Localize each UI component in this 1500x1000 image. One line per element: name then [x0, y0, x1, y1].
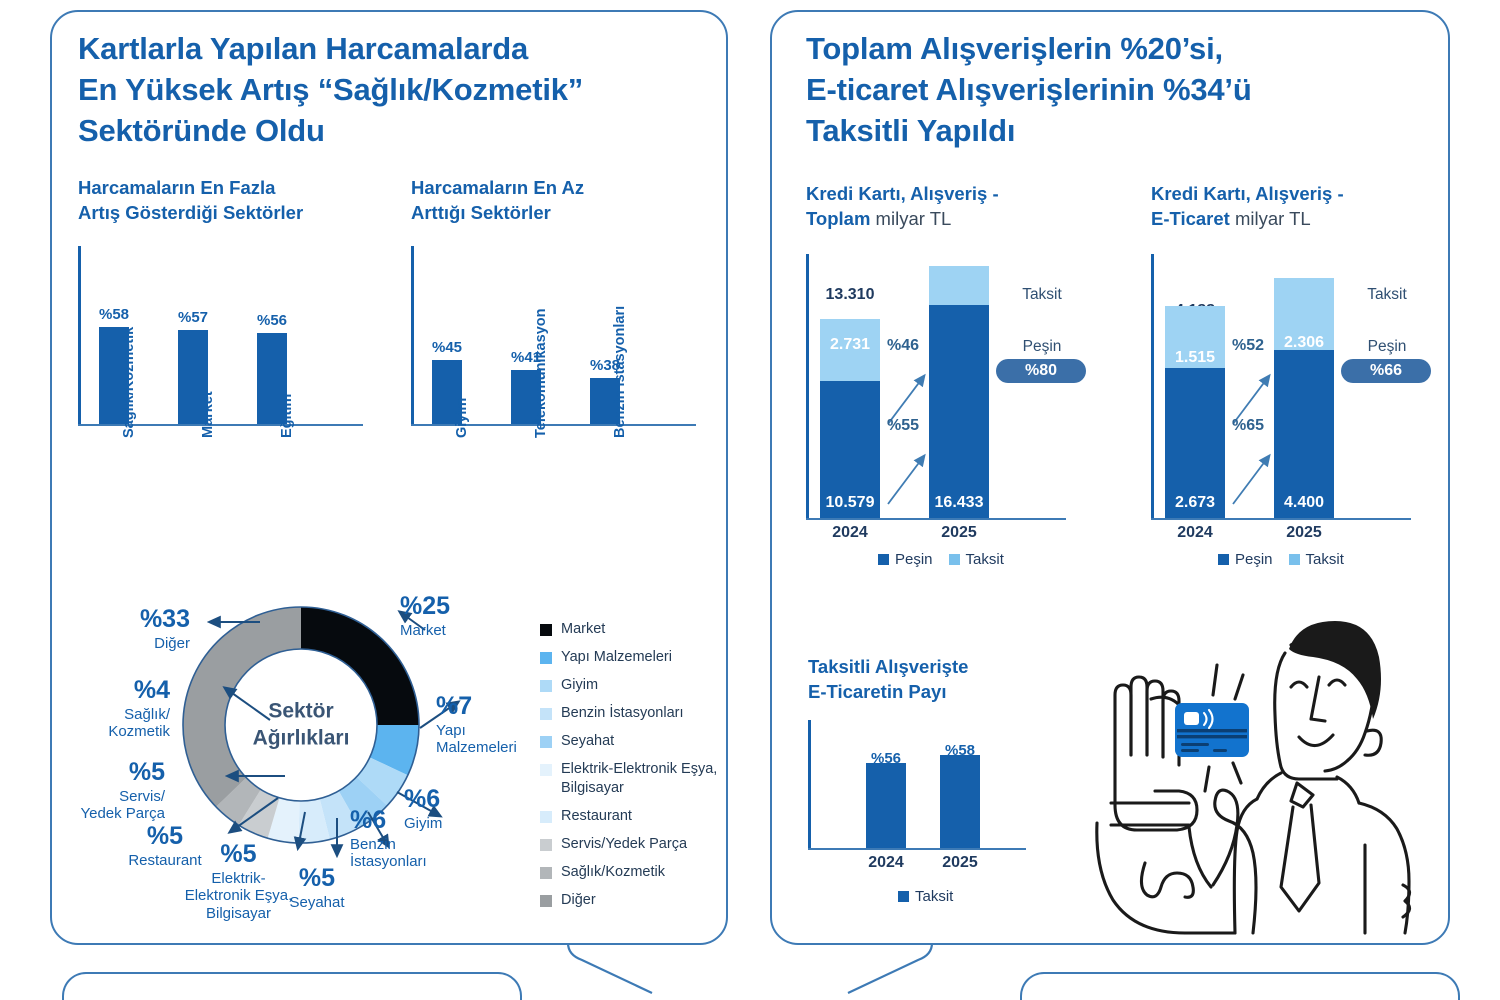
y-axis: [808, 720, 811, 848]
left-panel-title: Kartlarla Yapılan Harcamalarda En Yüksek…: [78, 28, 678, 152]
spark-2: [1235, 675, 1243, 699]
legend-swatch-taksit: [949, 554, 960, 565]
card-stripe-1: [1177, 729, 1247, 732]
x-axis-tick: 2024: [852, 854, 920, 872]
y-axis: [78, 246, 81, 424]
hair: [1289, 621, 1381, 719]
legend-swatch-pesin: [1218, 554, 1229, 565]
badge-value-taksit[interactable]: %20: [996, 308, 1086, 332]
chart-ecom-title: Kredi Kartı, Alışveriş - E-Ticaret milya…: [1151, 182, 1451, 232]
tie-body: [1281, 805, 1319, 911]
growth-label-bottom: %55: [887, 417, 919, 435]
spark-3: [1205, 767, 1209, 791]
legend-item[interactable]: Restaurant: [540, 807, 720, 826]
donut-callout-value: %5: [272, 864, 362, 894]
badge-value-pesin[interactable]: %66: [1341, 359, 1431, 383]
left-title-line-2: En Yüksek Artış “Sağlık/Kozmetik”: [78, 69, 678, 110]
right-title-line-1: Toplam Alışverişlerin %20’si,: [806, 28, 1426, 69]
bar-category: Telekomünikasyon: [533, 309, 549, 438]
finger-3: [1147, 681, 1163, 757]
legend-swatch-taksit: [1289, 554, 1300, 565]
legend-item[interactable]: Seyahat: [540, 732, 720, 751]
donut-callout-giyim: %6 Giyim: [404, 785, 442, 832]
donut-callout-value: %5: [35, 758, 165, 788]
chart-total-legend: Peşin Taksit: [878, 551, 1004, 568]
left-title-line-1: Kartlarla Yapılan Harcamalarda: [78, 28, 678, 69]
legend-swatch-restaurant: [540, 811, 552, 823]
chart-top-rise-sectors: %58 Sağlık/Kozmetik %57 Market %56 Eğiti…: [78, 246, 363, 426]
bar[interactable]: [940, 755, 980, 848]
donut-callout-yapi-malzemeleri: %7 YapıMalzemeleri: [436, 692, 517, 757]
legend-item[interactable]: Diğer: [540, 891, 720, 910]
legend-swatch-saglik-kozmetik: [540, 867, 552, 879]
y-axis: [411, 246, 414, 424]
panel-peek-bottom-right: [1020, 972, 1460, 1000]
donut-callout-label: Benzinİstasyonları: [350, 836, 427, 871]
chart-ecom-title-unit: milyar TL: [1230, 208, 1311, 229]
legend-swatch-seyahat: [540, 736, 552, 748]
growth-arrow-bottom: [1233, 456, 1269, 504]
growth-label-top: %52: [1232, 337, 1264, 355]
donut-callout-label: Diğer: [80, 635, 190, 653]
legend-item[interactable]: Benzin İstasyonları: [540, 704, 720, 723]
legend-label: Diğer: [561, 891, 596, 910]
chart-top-rise-title-line-2: Artış Gösterdiği Sektörler: [78, 201, 378, 226]
bar-category: Benzin İstasyonları: [612, 306, 628, 438]
finger-1: [1115, 685, 1131, 805]
x-axis-tick: 2025: [919, 524, 999, 542]
stack-segment-label-pesin: 2.673: [1159, 494, 1231, 512]
eye-right: [1329, 680, 1345, 685]
legend-swatch-pesin: [878, 554, 889, 565]
x-axis-tick: 2025: [926, 854, 994, 872]
card-stripe-2: [1177, 735, 1247, 738]
face-outline: [1275, 653, 1337, 779]
legend-item[interactable]: Taksit: [1289, 551, 1344, 568]
legend-swatch-benzin-istasyonlari: [540, 708, 552, 720]
donut-callout-label: Sağlık/Kozmetik: [40, 706, 170, 741]
chart-total-title-line-1: Kredi Kartı, Alışveriş -: [806, 182, 1106, 207]
chart-least-rise-title-line-1: Harcamaların En Az: [411, 176, 701, 201]
donut-callout-servis-yedek-parca: %5 Servis/Yedek Parça: [35, 758, 165, 823]
left-title-line-3: Sektöründe Oldu: [78, 110, 678, 151]
badge-label-pesin: Peşin: [1344, 338, 1430, 356]
right-panel-title: Toplam Alışverişlerin %20’si, E-ticaret …: [806, 28, 1426, 152]
legend-item[interactable]: Giyim: [540, 676, 720, 695]
chart-top-rise-title-line-1: Harcamaların En Fazla: [78, 176, 378, 201]
bar-value: %58: [87, 306, 141, 323]
legend-label: Sağlık/Kozmetik: [561, 863, 665, 882]
legend-label: Giyim: [561, 676, 598, 695]
donut-callout-label: Market: [400, 622, 450, 640]
donut-callout-market: %25 Market: [400, 592, 450, 639]
squiggle: [1141, 863, 1193, 897]
donut-callout-value: %4: [40, 676, 170, 706]
chart-ecom-share-title: Taksitli Alışverişte E-Ticaretin Payı: [808, 655, 1068, 705]
bar-category: Eğitim: [279, 394, 295, 438]
tie-knot: [1291, 783, 1313, 807]
legend-item[interactable]: Elektrik-Elektronik Eşya, Bilgisayar: [540, 760, 720, 797]
legend-item[interactable]: Peşin: [1218, 551, 1273, 568]
card-number-3: [1213, 749, 1227, 752]
stack-segment-label-taksit: 2.731: [820, 336, 880, 354]
cuff: [1111, 803, 1189, 825]
chart-total-title-strong: Toplam: [806, 208, 870, 229]
donut-callout-label: Servis/Yedek Parça: [35, 788, 165, 823]
chart-ecom-share-title-line-2: E-Ticaretin Payı: [808, 680, 1068, 705]
legend-label: Taksit: [1306, 551, 1344, 568]
stack-segment-taksit[interactable]: [929, 266, 989, 305]
bar-category: Market: [200, 391, 216, 438]
bar-value: %56: [245, 312, 299, 329]
legend-swatch-servis-yedek-parca: [540, 839, 552, 851]
donut-callout-saglik-kozmetik: %4 Sağlık/Kozmetik: [40, 676, 170, 741]
legend-label: Elektrik-Elektronik Eşya, Bilgisayar: [561, 760, 720, 797]
stack-total-label: 13.310: [814, 286, 886, 304]
donut-callout-label: Giyim: [404, 815, 442, 833]
legend-swatch-giyim: [540, 680, 552, 692]
legend-swatch-diger: [540, 895, 552, 907]
infographic-stage: Kartlarla Yapılan Harcamalarda En Yüksek…: [0, 0, 1500, 1000]
donut-callout-value: %7: [436, 692, 517, 722]
donut-callout-label: YapıMalzemeleri: [436, 722, 517, 757]
chart-ecom-title-line-1: Kredi Kartı, Alışveriş -: [1151, 182, 1451, 207]
growth-label-bottom: %65: [1232, 417, 1264, 435]
badge-label-taksit: Taksit: [1344, 286, 1430, 304]
bar[interactable]: [866, 763, 906, 848]
legend-label: Peşin: [895, 551, 933, 568]
x-axis: [1151, 518, 1411, 520]
credit-card: [1175, 703, 1249, 757]
growth-arrow-bottom: [888, 456, 924, 504]
legend-label: Restaurant: [561, 807, 632, 826]
donut-callout-seyahat: %5 Seyahat: [272, 864, 362, 911]
chart-ecom-share-legend: Taksit: [898, 888, 953, 905]
chart-least-rise-title: Harcamaların En Az Arttığı Sektörler: [411, 176, 701, 226]
arrow-saglik-kozmetik: [225, 688, 270, 720]
right-title-line-3: Taksitli Yapıldı: [806, 110, 1426, 151]
legend-label: Market: [561, 620, 605, 639]
stack-segment-label-pesin: 10.579: [814, 494, 886, 512]
nose: [1311, 677, 1325, 721]
arrow-restaurant: [230, 798, 278, 832]
legend-label: Yapı Malzemeleri: [561, 648, 672, 667]
badge-value-pesin[interactable]: %80: [996, 359, 1086, 383]
x-axis-tick: 2024: [1159, 524, 1231, 542]
chart-least-rise-sectors: %45 Giyim %41 Telekomünikasyon %38 Benzi…: [411, 246, 696, 426]
donut-callout-label: Seyahat: [272, 894, 362, 912]
card-number-1: [1181, 743, 1209, 746]
finger-2: [1131, 677, 1147, 755]
eye-left: [1291, 682, 1307, 687]
stack-segment-label-taksit: 1.515: [1165, 349, 1225, 367]
chart-top-rise-title: Harcamaların En Fazla Artış Gösterdiği S…: [78, 176, 378, 226]
legend-item[interactable]: Taksit: [949, 551, 1004, 568]
donut-legend: Market Yapı Malzemeleri Giyim Benzin İst…: [540, 620, 720, 919]
bar-value: %57: [166, 309, 220, 326]
card-chip: [1184, 712, 1199, 725]
growth-label-top: %46: [887, 337, 919, 355]
y-axis: [1151, 254, 1154, 518]
legend-label: Peşin: [1235, 551, 1273, 568]
forearm-upper: [1189, 827, 1211, 887]
legend-label: Benzin İstasyonları: [561, 704, 684, 723]
panel-peek-bottom-left: [62, 972, 522, 1000]
legend-item[interactable]: Taksit: [898, 888, 953, 905]
chart-ecom-share-title-line-1: Taksitli Alışverişte: [808, 655, 1068, 680]
donut-callout-diger: %33 Diğer: [80, 605, 190, 652]
chart-least-rise-title-line-2: Arttığı Sektörler: [411, 201, 701, 226]
legend-item[interactable]: Yapı Malzemeleri: [540, 648, 720, 667]
spark-1: [1213, 665, 1217, 695]
collar-right: [1337, 777, 1359, 803]
legend-item[interactable]: Sağlık/Kozmetik: [540, 863, 720, 882]
badge-label-pesin: Peşin: [999, 338, 1085, 356]
bar-category: Giyim: [454, 398, 470, 438]
legend-item[interactable]: Peşin: [878, 551, 933, 568]
chart-ecommerce-share: %56 2024 %58 2025: [808, 720, 1026, 850]
legend-label: Seyahat: [561, 732, 614, 751]
legend-label: Taksit: [966, 551, 1004, 568]
badge-value-taksit[interactable]: %34: [1341, 308, 1431, 332]
legend-item[interactable]: Servis/Yedek Parça: [540, 835, 720, 854]
legend-item[interactable]: Market: [540, 620, 720, 639]
x-axis-tick: 2024: [814, 524, 886, 542]
legend-label: Servis/Yedek Parça: [561, 835, 687, 854]
x-axis-tick: 2025: [1264, 524, 1344, 542]
collar-left: [1257, 773, 1281, 799]
chart-ecom-legend: Peşin Taksit: [1218, 551, 1344, 568]
badge-label-taksit: Taksit: [999, 286, 1085, 304]
legend-swatch-market: [540, 624, 552, 636]
card-number-2: [1181, 749, 1199, 752]
donut-callout-value: %33: [80, 605, 190, 635]
legend-swatch-yapi-malzemeleri: [540, 652, 552, 664]
donut-callout-value: %6: [404, 785, 442, 815]
chart-ecom-title-strong: E-Ticaret: [1151, 208, 1230, 229]
legend-label: Taksit: [915, 888, 953, 905]
mouth: [1299, 735, 1333, 746]
x-axis: [806, 518, 1066, 520]
spark-4: [1233, 763, 1241, 783]
donut-callout-value: %25: [400, 592, 450, 622]
illustration-person-holding-contactless-credit-card: [1085, 615, 1445, 945]
chart-total-title-unit: milyar TL: [870, 208, 951, 229]
legend-swatch-elektrik-elektronik: [540, 764, 552, 776]
right-title-line-2: E-ticaret Alışverişlerinin %34’ü: [806, 69, 1426, 110]
x-axis: [808, 848, 1026, 850]
bar-category: Sağlık/Kozmetik: [121, 327, 137, 438]
ear: [1365, 730, 1381, 755]
bar-value: %45: [420, 339, 474, 356]
chart-total-title: Kredi Kartı, Alışveriş - Toplam milyar T…: [806, 182, 1106, 232]
y-axis: [806, 254, 809, 518]
legend-swatch-taksit: [898, 891, 909, 902]
